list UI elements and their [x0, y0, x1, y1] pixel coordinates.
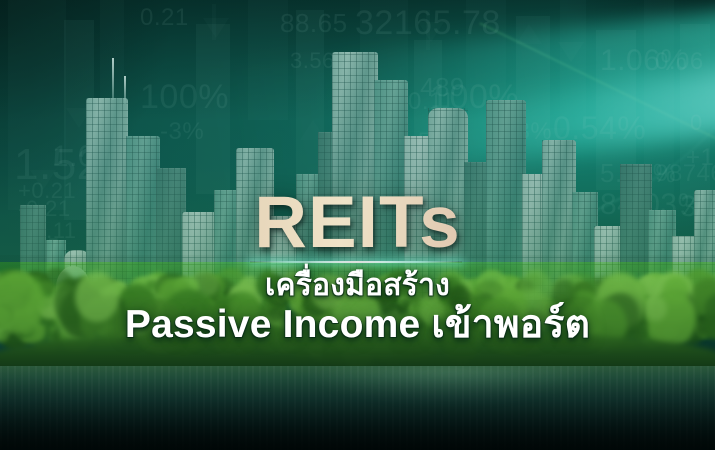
water-reflection — [0, 366, 715, 450]
page-title: REITs — [0, 186, 715, 259]
reits-promotional-banner: 1.00+0.21+0.111.52%-0.21-0.50.2132165.78… — [0, 0, 715, 450]
subtitle-mixed-line: Passive Income เข้าพอร์ต — [0, 304, 715, 347]
subtitle-thai-line: เครื่องมือสร้าง — [0, 270, 715, 302]
subtitle-block: เครื่องมือสร้าง Passive Income เข้าพอร์ต — [0, 270, 715, 347]
